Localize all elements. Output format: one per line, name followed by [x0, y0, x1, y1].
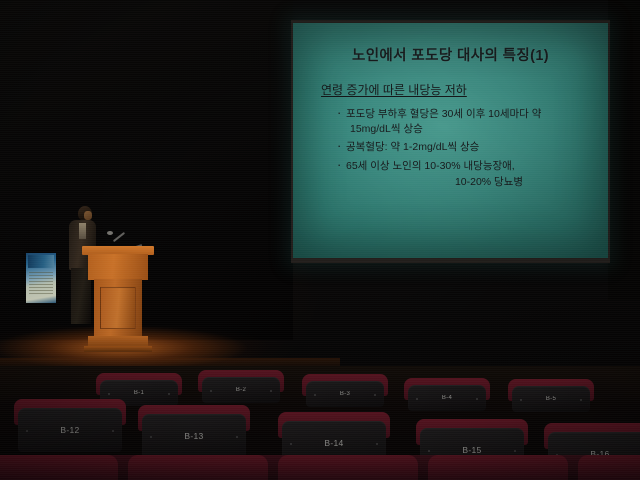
podium-upper-body — [88, 254, 148, 280]
lecture-hall-photo: 노인에서 포도당 대사의 특징(1) 연령 증가에 따른 내당능 저하 포도당 … — [0, 0, 640, 480]
bullet-line-continuation: 10-20% 당뇨병 — [346, 173, 592, 190]
slide-title: 노인에서 포도당 대사의 특징(1) — [293, 44, 608, 65]
foreground-seat — [0, 455, 118, 480]
seat-b4[interactable]: B-4 — [408, 385, 486, 411]
seat-back: B-4 — [408, 385, 486, 411]
presentation-slide: 노인에서 포도당 대사의 특징(1) 연령 증가에 따른 내당능 저하 포도당 … — [293, 23, 608, 258]
seat-number-label: B-13 — [142, 431, 246, 441]
seat-back: B-3 — [306, 381, 384, 407]
seat-back: B-12 — [18, 408, 122, 452]
seat-number-label: B-15 — [420, 445, 524, 455]
speaker-face — [84, 211, 92, 220]
bullet-line-primary: 공복혈당: 약 1-2mg/dL씩 상승 — [346, 141, 479, 153]
projection-screen: 노인에서 포도당 대사의 특징(1) 연령 증가에 따른 내당능 저하 포도당 … — [293, 23, 608, 258]
slide-bullet-item: 포도당 부하후 혈당은 30세 이후 10세마다 약 15mg/dL씩 상승 — [337, 107, 592, 136]
seat-back: B-13 — [142, 414, 246, 458]
seat-b13[interactable]: B-13 — [142, 414, 246, 458]
seat-number-label: B-2 — [202, 387, 280, 393]
podium-front-panel — [100, 287, 136, 329]
seat-b5[interactable]: B-5 — [512, 386, 590, 412]
podium-column — [94, 279, 142, 337]
podium-banner-poster — [26, 253, 56, 303]
seat-b3[interactable]: B-3 — [306, 381, 384, 407]
back-wall-right — [608, 0, 640, 300]
bullet-line-continuation: 15mg/dL씩 상승 — [346, 122, 592, 137]
seat-number-label: B-5 — [512, 396, 590, 402]
foreground-seat — [428, 455, 568, 480]
seat-back: B-2 — [202, 377, 280, 403]
seat-b12[interactable]: B-12 — [18, 408, 122, 452]
microphone-capsule — [107, 231, 113, 235]
seat-b2[interactable]: B-2 — [202, 377, 280, 403]
foreground-seat — [128, 455, 268, 480]
seat-number-label: B-12 — [18, 425, 122, 435]
seat-number-label: B-1 — [100, 390, 178, 396]
seat-back: B-5 — [512, 386, 590, 412]
slide-subtitle: 연령 증가에 따른 내당능 저하 — [321, 81, 467, 98]
podium-plinth — [84, 346, 152, 352]
banner-text-block — [29, 272, 53, 294]
slide-bullet-item: 65세 이상 노인의 10-30% 내당능장애, 10-20% 당뇨병 — [337, 159, 592, 190]
foreground-seat — [278, 455, 418, 480]
podium — [86, 246, 150, 352]
foreground-seat-row — [0, 455, 640, 480]
foreground-seat — [578, 455, 640, 480]
bullet-line-primary: 포도당 부하후 혈당은 30세 이후 10세마다 약 — [346, 108, 541, 120]
banner-header-block — [28, 255, 54, 268]
seat-number-label: B-14 — [282, 438, 386, 448]
bullet-line-primary: 65세 이상 노인의 10-30% 내당능장애, — [346, 160, 515, 172]
slide-bullet-list: 포도당 부하후 혈당은 30세 이후 10세마다 약 15mg/dL씩 상승 공… — [337, 107, 592, 194]
seat-number-label: B-3 — [306, 391, 384, 397]
speaker-shirt — [79, 223, 86, 239]
slide-bullet-item: 공복혈당: 약 1-2mg/dL씩 상승 — [337, 140, 592, 155]
seat-number-label: B-4 — [408, 395, 486, 401]
